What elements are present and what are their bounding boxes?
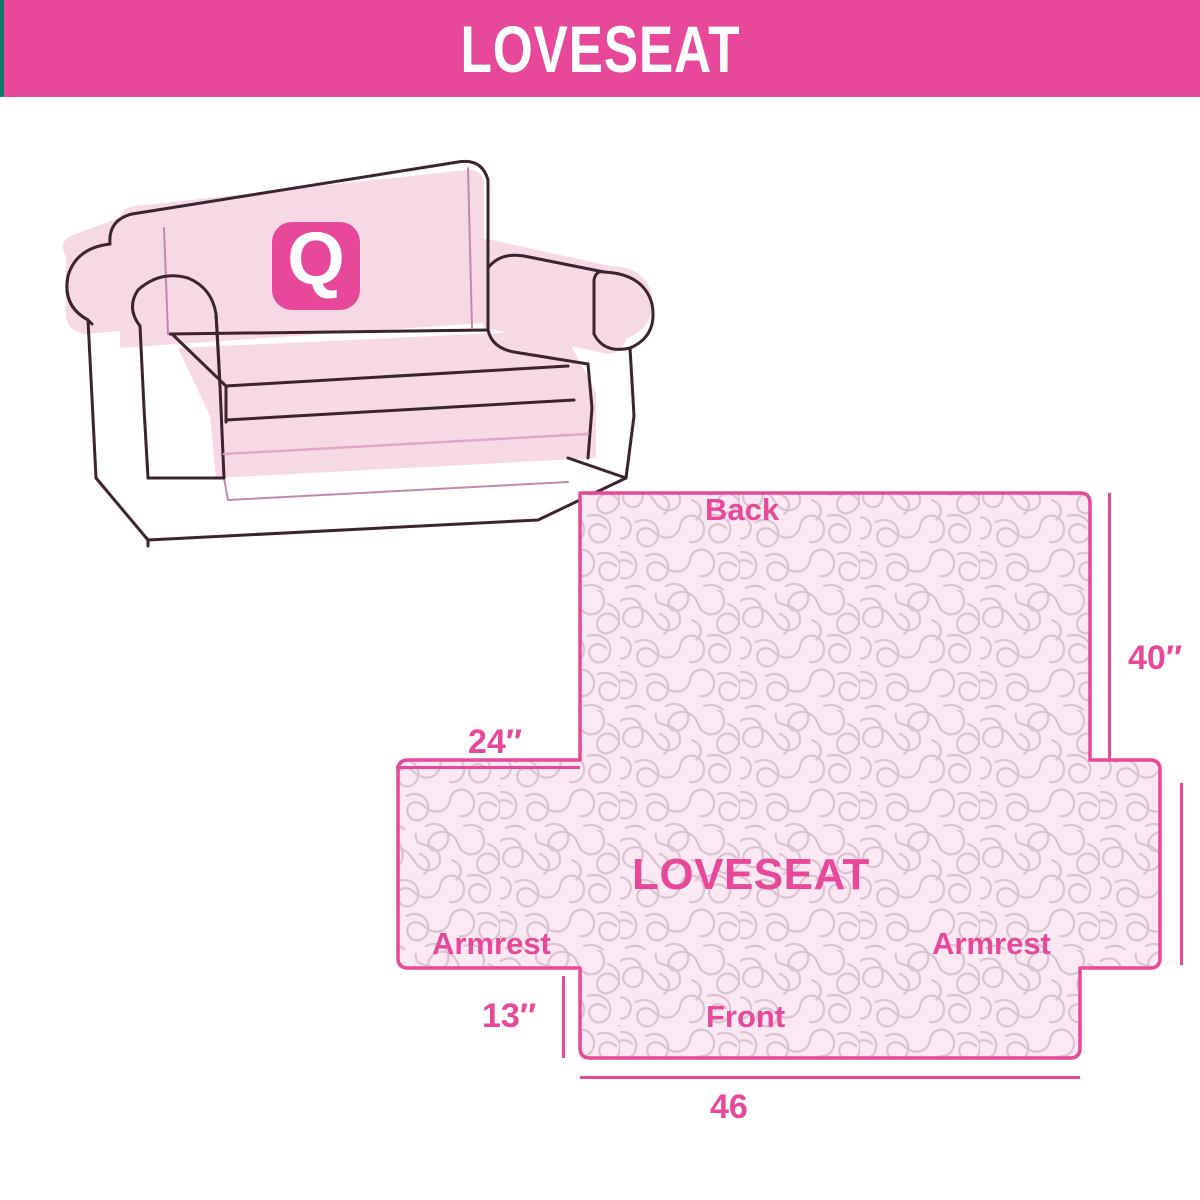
page-title: LOVESEAT [460,16,740,82]
dim-label-total-width: 46 [710,1090,748,1124]
logo-letter: Q [287,217,345,300]
dim-line-armrest-height [1180,783,1183,965]
sofa-right-outer-side [626,348,634,478]
dim-label-back-width: 24″ [468,725,522,759]
header-banner: LOVESEAT [0,0,1200,97]
cover-cross-shape [398,493,1160,1058]
cover-layout-svg [380,470,1190,1150]
dim-line-front-height [562,976,565,1058]
header-accent-strip [0,0,4,97]
dim-line-back-width [396,766,580,769]
panel-label-armrest-left: Armrest [432,928,551,959]
panel-label-center: LOVESEAT [632,853,870,897]
sofa-left-inner-arm-front [140,326,148,478]
panel-label-back: Back [705,494,779,525]
brand-logo-badge: Q [272,217,360,310]
panel-label-armrest-right: Armrest [932,928,1051,959]
dim-line-back-height [1108,493,1111,760]
dim-line-total-width [580,1076,1080,1079]
panel-label-front: Front [706,1001,785,1032]
dim-label-front-height: 13″ [482,999,536,1033]
cover-layout-diagram: Back LOVESEAT Armrest Armrest Front 40″ … [380,470,1190,1150]
dim-label-back-height: 40″ [1128,641,1182,675]
